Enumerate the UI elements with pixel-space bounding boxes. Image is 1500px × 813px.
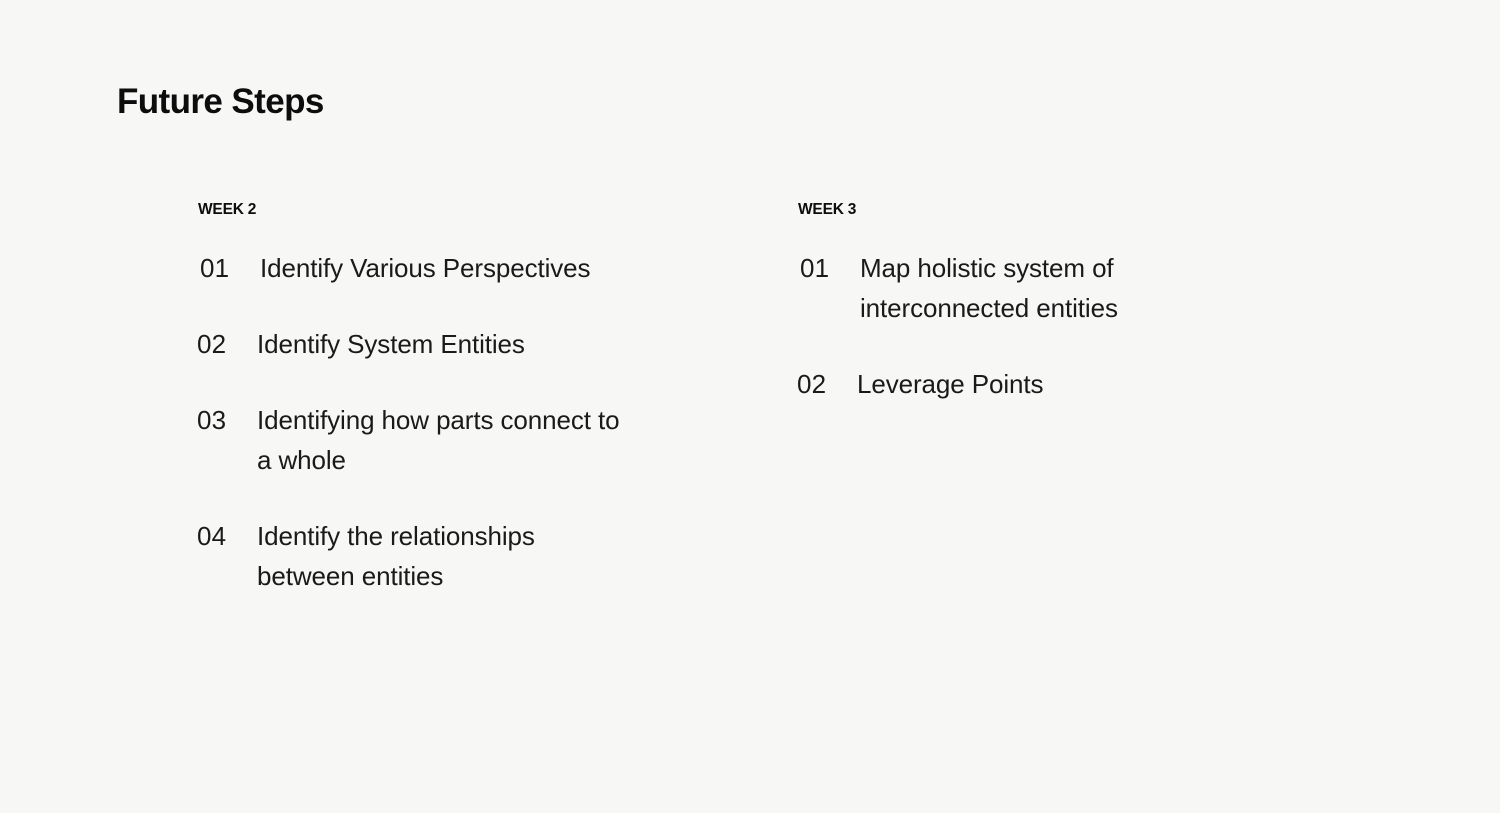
item-number: 04 xyxy=(197,516,257,556)
item-number: 01 xyxy=(197,248,260,288)
list-item: 01 Map holistic system of interconnected… xyxy=(797,248,1397,328)
item-text: Identify the relationships between entit… xyxy=(257,516,637,596)
column-header-week-3: WEEK 3 xyxy=(798,200,1397,220)
page-title: Future Steps xyxy=(117,80,324,124)
list-item: 04 Identify the relationships between en… xyxy=(197,516,797,596)
item-list-week-2: 01 Identify Various Perspectives 02 Iden… xyxy=(197,248,797,596)
item-number: 02 xyxy=(797,364,857,404)
column-week-2: WEEK 2 01 Identify Various Perspectives … xyxy=(197,200,797,596)
column-week-3: WEEK 3 01 Map holistic system of interco… xyxy=(797,200,1397,404)
item-text: Leverage Points xyxy=(857,364,1237,404)
item-text: Identifying how parts connect to a whole xyxy=(257,400,637,480)
item-text: Identify Various Perspectives xyxy=(260,248,640,288)
list-item: 03 Identifying how parts connect to a wh… xyxy=(197,400,797,480)
list-item: 02 Leverage Points xyxy=(797,364,1397,404)
item-text: Map holistic system of interconnected en… xyxy=(860,248,1240,328)
item-number: 03 xyxy=(197,400,257,440)
slide-root: Future Steps WEEK 2 01 Identify Various … xyxy=(0,0,1500,813)
week-columns: WEEK 2 01 Identify Various Perspectives … xyxy=(197,200,1437,596)
list-item: 02 Identify System Entities xyxy=(197,324,797,364)
item-text: Identify System Entities xyxy=(257,324,637,364)
list-item: 01 Identify Various Perspectives xyxy=(197,248,797,288)
item-number: 02 xyxy=(197,324,257,364)
item-list-week-3: 01 Map holistic system of interconnected… xyxy=(797,248,1397,404)
column-header-week-2: WEEK 2 xyxy=(198,200,797,220)
item-number: 01 xyxy=(797,248,860,288)
